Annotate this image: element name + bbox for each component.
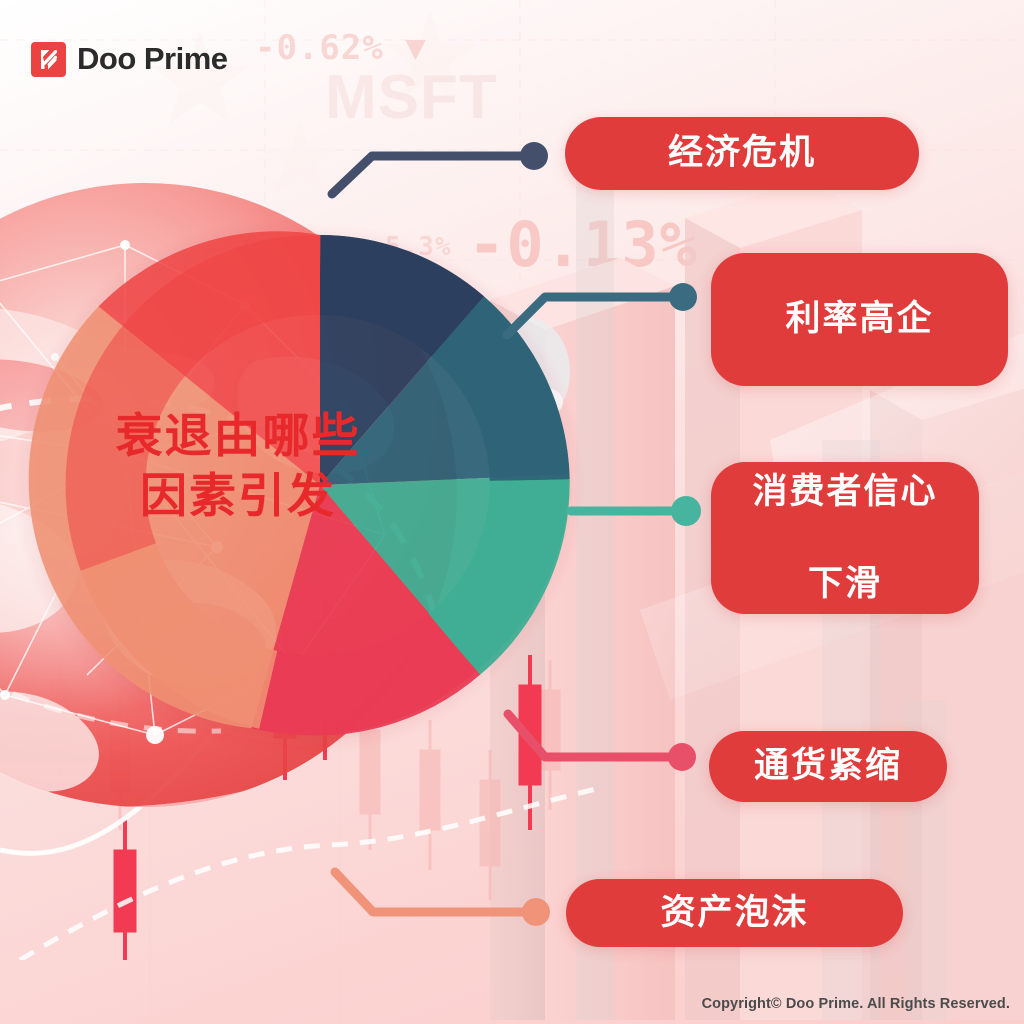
label-pill-text-1: 利率高企 xyxy=(785,296,933,342)
connector-dot-2 xyxy=(671,496,701,526)
label-pill-economic-crisis[interactable]: 经济危机 xyxy=(565,117,919,190)
label-pill-consumer-confidence[interactable]: 消费者信心 下滑 xyxy=(711,462,979,614)
page-title-line1: 衰退由哪些 xyxy=(78,406,398,466)
label-pill-text-2: 消费者信心 下滑 xyxy=(752,469,937,608)
page-title: 衰退由哪些 因素引发 xyxy=(78,406,398,526)
label-pill-text-4: 资产泡沫 xyxy=(660,890,808,936)
connector-0 xyxy=(332,156,530,194)
doo-prime-flag-icon xyxy=(31,42,66,77)
connector-dot-3 xyxy=(668,743,696,771)
connector-3 xyxy=(508,714,678,757)
label-pill-text-2-line2: 下滑 xyxy=(752,561,937,607)
copyright-notice: Copyright© Doo Prime. All Rights Reserve… xyxy=(702,996,1010,1012)
infographic-canvas: -0.62% ▼ MSFT 5.3% -0.13% xyxy=(0,0,1024,1024)
label-pill-asset-bubble[interactable]: 资产泡沫 xyxy=(566,879,903,947)
connector-4 xyxy=(335,872,532,912)
connector-dot-4 xyxy=(522,898,550,926)
label-pill-high-interest-rates[interactable]: 利率高企 xyxy=(711,253,1008,386)
label-pill-deflation[interactable]: 通货紧缩 xyxy=(709,731,947,802)
page-title-line2: 因素引发 xyxy=(78,466,398,526)
brand-name: Doo Prime xyxy=(77,41,228,77)
connector-dot-1 xyxy=(669,283,697,311)
connector-dot-0 xyxy=(520,142,548,170)
connector-1 xyxy=(507,297,679,335)
label-pill-text-2-line1: 消费者信心 xyxy=(752,469,937,515)
brand-logo[interactable]: Doo Prime xyxy=(31,41,228,77)
label-pill-text-3: 通货紧缩 xyxy=(754,743,902,789)
label-pill-text-0: 经济危机 xyxy=(668,130,816,176)
